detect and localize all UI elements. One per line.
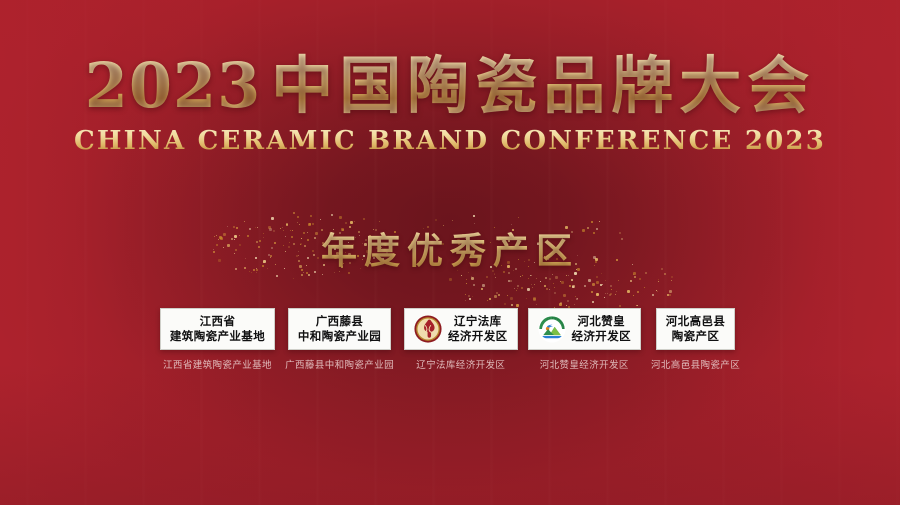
award-section: 年度优秀产区 — [0, 228, 900, 298]
winner-card[interactable]: 江西省建筑陶瓷产业基地 — [160, 308, 275, 350]
conference-poster: 2023中国陶瓷品牌大会 CHINA CERAMIC BRAND CONFERE… — [0, 0, 900, 505]
winner-card[interactable]: 辽宁法库经济开发区 — [404, 308, 518, 350]
award-title: 年度优秀产区 — [321, 228, 579, 276]
page-title: 2023中国陶瓷品牌大会 — [0, 52, 900, 120]
green-mountain-bird-icon — [538, 315, 566, 343]
winner-caption: 江西省建筑陶瓷产业基地 — [163, 357, 272, 371]
winner-caption: 河北高邑县陶瓷产区 — [651, 357, 740, 371]
winner-card-name-line1: 广西藤县 — [298, 314, 381, 329]
winner-caption: 河北赞皇经济开发区 — [540, 357, 629, 371]
winner-card-name: 广西藤县中和陶瓷产业园 — [298, 314, 381, 344]
title-main-cn: 中国陶瓷品牌大会 — [271, 49, 815, 122]
winner-card[interactable]: 河北赞皇经济开发区 — [528, 308, 642, 350]
winner-card-name: 河北赞皇经济开发区 — [572, 314, 632, 344]
winner-card-name: 河北高邑县陶瓷产区 — [666, 314, 726, 344]
award-winner-5: 河北高邑县陶瓷产区河北高邑县陶瓷产区 — [651, 308, 740, 371]
award-winners-list: 江西省建筑陶瓷产业基地江西省建筑陶瓷产业基地广西藤县中和陶瓷产业园广西藤县中和陶… — [0, 308, 900, 371]
winner-card-name-line2: 中和陶瓷产业园 — [298, 329, 381, 344]
winner-card-name: 辽宁法库经济开发区 — [448, 314, 508, 344]
winner-card-name-line1: 河北高邑县 — [666, 314, 726, 329]
winner-caption: 辽宁法库经济开发区 — [416, 357, 505, 371]
award-winner-3: 辽宁法库经济开发区辽宁法库经济开发区 — [404, 308, 518, 371]
winner-card-name: 江西省建筑陶瓷产业基地 — [170, 314, 265, 344]
winner-card-name-line2: 经济开发区 — [448, 329, 508, 344]
winner-card-name-line1: 江西省 — [170, 314, 265, 329]
winner-card[interactable]: 河北高邑县陶瓷产区 — [656, 308, 736, 350]
award-winner-2: 广西藤县中和陶瓷产业园广西藤县中和陶瓷产业园 — [285, 308, 394, 371]
red-seal-flame-icon — [414, 315, 442, 343]
award-winner-1: 江西省建筑陶瓷产业基地江西省建筑陶瓷产业基地 — [160, 308, 275, 371]
winner-card-name-line2: 陶瓷产区 — [666, 329, 726, 344]
winner-card-name-line2: 经济开发区 — [572, 329, 632, 344]
winner-card-name-line2: 建筑陶瓷产业基地 — [170, 329, 265, 344]
winner-caption: 广西藤县中和陶瓷产业园 — [285, 357, 394, 371]
title-block: 2023中国陶瓷品牌大会 CHINA CERAMIC BRAND CONFERE… — [0, 52, 900, 156]
winner-card[interactable]: 广西藤县中和陶瓷产业园 — [288, 308, 391, 350]
winner-card-name-line1: 河北赞皇 — [572, 314, 632, 329]
award-winner-4: 河北赞皇经济开发区河北赞皇经济开发区 — [528, 308, 642, 371]
title-year: 2023 — [85, 49, 262, 122]
winner-card-name-line1: 辽宁法库 — [448, 314, 508, 329]
title-subtitle-en: CHINA CERAMIC BRAND CONFERENCE 2023 — [0, 126, 900, 156]
